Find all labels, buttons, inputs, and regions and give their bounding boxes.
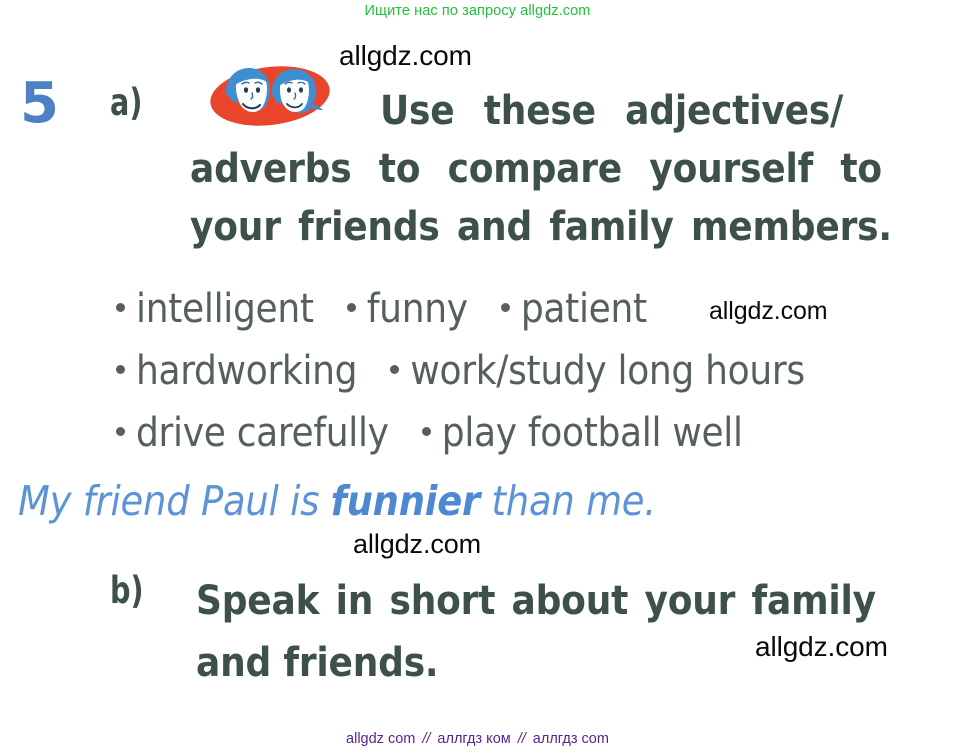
- list-item: drive carefully: [116, 410, 389, 456]
- list-item: intelligent: [116, 286, 314, 332]
- part-a-instruction: Use these adjectives/ adverbs to compare…: [190, 82, 874, 256]
- part-b-line-1: Speak in short about your family: [196, 570, 886, 632]
- footer-part-3: аллгдз com: [533, 731, 609, 747]
- part-a-line-3: your friends and family members.: [190, 198, 874, 256]
- word-bank-row-1: intelligent funny patient: [116, 278, 805, 340]
- list-item: patient: [501, 286, 647, 332]
- search-hint-banner: Ищите нас по запросу allgdz.com: [0, 3, 955, 19]
- word-bank-term: patient: [521, 286, 647, 332]
- example-sentence-highlight: funnier: [331, 477, 480, 525]
- footer-separator-1: //: [422, 731, 430, 747]
- site-footer: allgdz com//аллгдз ком//аллгдз com: [0, 731, 955, 747]
- list-item: play football well: [422, 410, 743, 456]
- word-bank-row-2: hardworking work/study long hours: [116, 340, 805, 402]
- part-a-line-1: Use these adjectives/: [190, 82, 874, 140]
- list-item: hardworking: [116, 348, 357, 394]
- part-b-instruction: Speak in short about your family and fri…: [196, 570, 886, 694]
- part-b-line-2: and friends.: [196, 632, 886, 694]
- bullet-dot-icon: [390, 365, 399, 374]
- bullet-dot-icon: [347, 303, 356, 312]
- list-item: work/study long hours: [390, 348, 804, 394]
- word-bank-term: intelligent: [136, 286, 314, 332]
- word-bank-row-3: drive carefully play football well: [116, 402, 805, 464]
- part-a-line-2: adverbs to compare yourself to: [190, 140, 874, 198]
- watermark-center: allgdz.com: [353, 529, 481, 560]
- word-bank-term: funny: [367, 286, 468, 332]
- watermark-top: allgdz.com: [339, 40, 472, 72]
- footer-separator-2: //: [518, 731, 526, 747]
- word-bank-term: play football well: [442, 410, 743, 456]
- word-bank-term: work/study long hours: [410, 348, 804, 394]
- word-bank-term: hardworking: [136, 348, 357, 394]
- list-item: funny: [347, 286, 468, 332]
- footer-part-1: allgdz com: [346, 731, 415, 747]
- bullet-dot-icon: [422, 427, 431, 436]
- word-bank-list: intelligent funny patient hardworking wo…: [116, 278, 805, 464]
- example-sentence: My friend Paul is funnier than me.: [18, 481, 656, 522]
- word-bank-term: drive carefully: [136, 410, 389, 456]
- example-sentence-before: My friend Paul is: [18, 477, 331, 525]
- part-a-letter: a): [110, 84, 142, 121]
- bullet-dot-icon: [501, 303, 510, 312]
- footer-part-2: аллгдз ком: [437, 731, 510, 747]
- bullet-dot-icon: [116, 303, 125, 312]
- example-sentence-after: than me.: [480, 477, 656, 525]
- bullet-dot-icon: [116, 427, 125, 436]
- exercise-number: 5: [20, 76, 58, 132]
- bullet-dot-icon: [116, 365, 125, 374]
- part-b-letter: b): [110, 572, 144, 609]
